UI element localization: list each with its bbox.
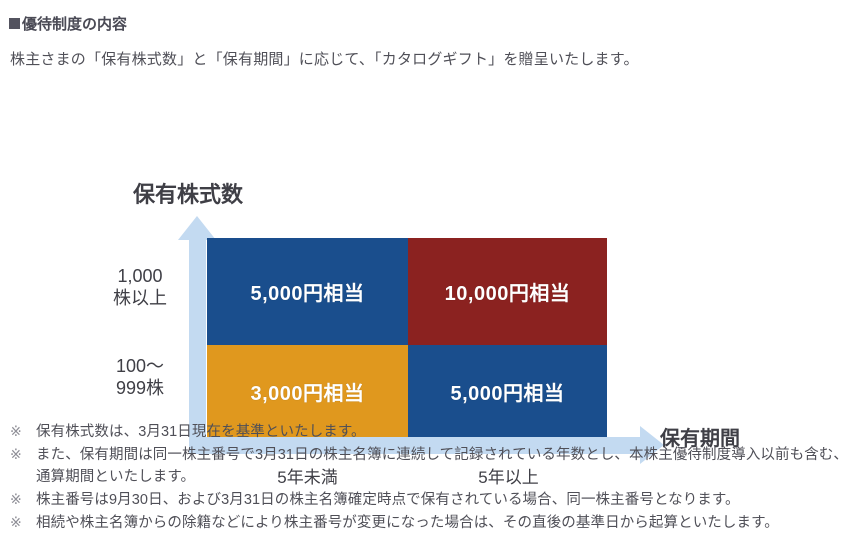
y-tick-label-1000-line2: 株以上 bbox=[97, 288, 183, 310]
matrix-cell-1000plus-under5y: 5,000円相当 bbox=[207, 238, 408, 345]
y-axis-arrow-shaft bbox=[189, 237, 206, 452]
footnote-item: ※ 保有株式数は、3月31日現在を基準といたします。 bbox=[10, 421, 860, 443]
square-bullet-icon bbox=[9, 18, 20, 29]
y-tick-label-1000-or-more: 1,000 株以上 bbox=[97, 266, 183, 310]
footnote-item: ※ 相続や株主名簿からの除籍などにより株主番号が変更になった場合は、その直後の基… bbox=[10, 512, 860, 534]
intro-paragraph: 株主さまの「保有株式数」と「保有期間」に応じて、「カタログギフト」を贈呈いたしま… bbox=[10, 48, 639, 69]
benefit-matrix-grid: 5,000円相当 10,000円相当 3,000円相当 5,000円相当 bbox=[207, 238, 607, 437]
footnote-text: また、保有期間は同一株主番号で3月31日の株主名簿に連続して記録されている年数と… bbox=[36, 444, 860, 488]
footnote-list: ※ 保有株式数は、3月31日現在を基準といたします。 ※ また、保有期間は同一株… bbox=[10, 421, 860, 535]
page-title: 優待制度の内容 bbox=[9, 13, 127, 34]
page-title-text: 優待制度の内容 bbox=[22, 13, 127, 34]
y-tick-label-1000-line1: 1,000 bbox=[97, 266, 183, 288]
y-tick-label-100-line2: 999株 bbox=[97, 378, 183, 400]
footnote-text: 株主番号は9月30日、および3月31日の株主名簿確定時点で保有されている場合、同… bbox=[36, 489, 860, 511]
reference-mark-icon: ※ bbox=[10, 512, 36, 533]
footnote-text: 相続や株主名簿からの除籍などにより株主番号が変更になった場合は、その直後の基準日… bbox=[36, 512, 860, 534]
footnote-item: ※ また、保有期間は同一株主番号で3月31日の株主名簿に連続して記録されている年… bbox=[10, 444, 860, 488]
reference-mark-icon: ※ bbox=[10, 489, 36, 510]
y-tick-label-100-to-999: 100〜 999株 bbox=[97, 356, 183, 400]
benefit-matrix-figure: 保有株式数 保有期間 1,000 株以上 100〜 999株 5,000円相当 … bbox=[0, 85, 865, 405]
footnote-item: ※ 株主番号は9月30日、および3月31日の株主名簿確定時点で保有されている場合… bbox=[10, 489, 860, 511]
matrix-cell-1000plus-over5y: 10,000円相当 bbox=[408, 238, 607, 345]
footnote-text: 保有株式数は、3月31日現在を基準といたします。 bbox=[36, 421, 860, 443]
reference-mark-icon: ※ bbox=[10, 421, 36, 442]
y-axis-title: 保有株式数 bbox=[133, 177, 243, 209]
y-tick-label-100-line1: 100〜 bbox=[97, 356, 183, 378]
reference-mark-icon: ※ bbox=[10, 444, 36, 465]
